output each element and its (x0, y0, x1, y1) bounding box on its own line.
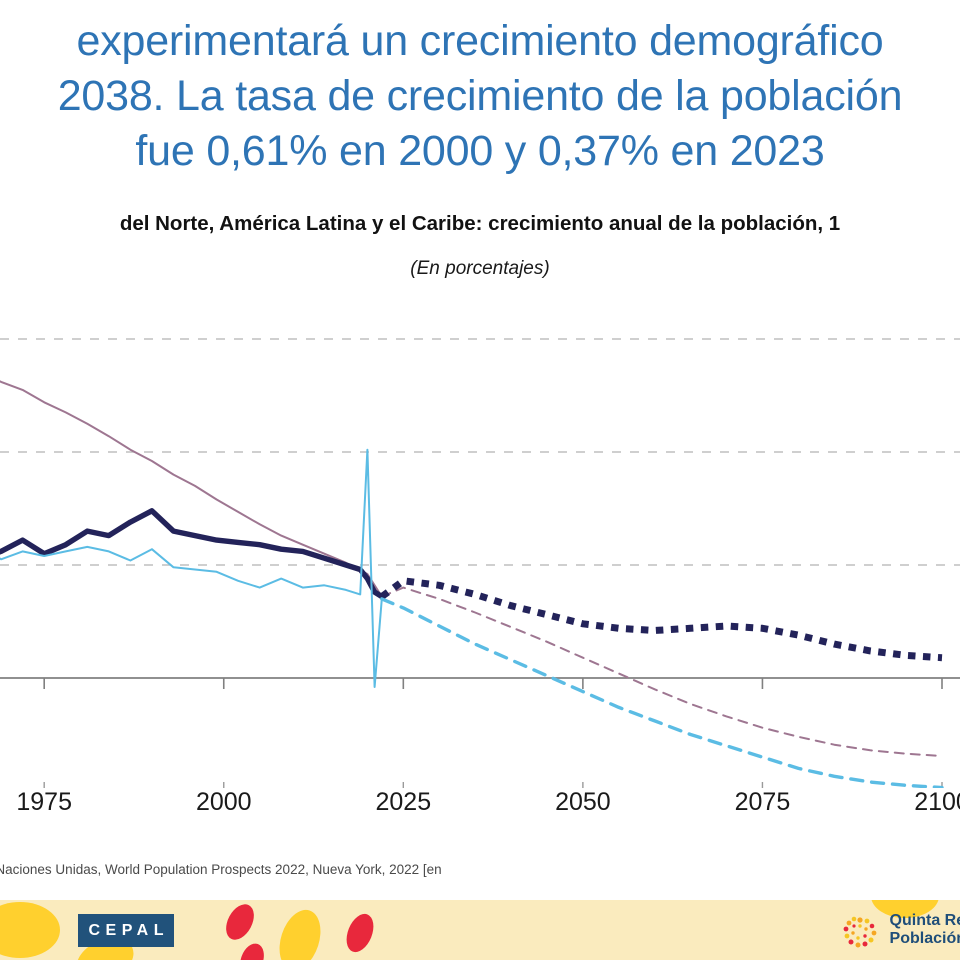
x-axis-label: 2050 (555, 788, 611, 817)
chart-x-axis-labels: 197520002025205020752100 (0, 788, 960, 822)
event-title-line-1: Quinta Re (890, 912, 960, 930)
sunburst-icon (838, 910, 882, 950)
x-axis-label: 1975 (16, 788, 72, 817)
event-title-line-2: Población (890, 930, 960, 948)
event-logo: Quinta Re Población (838, 910, 960, 950)
slide-title-line-3: fue 0,61% en 2000 y 0,37% en 2023 (0, 124, 960, 179)
slide-title-line-2: 2038. La tasa de crecimiento de la pobla… (0, 69, 960, 124)
x-axis-label: 2000 (196, 788, 252, 817)
x-axis-label: 2075 (735, 788, 791, 817)
x-axis-label: 2100 (914, 788, 960, 817)
x-axis-label: 2025 (376, 788, 432, 817)
growth-line-chart (0, 318, 960, 788)
chart-series-layer (0, 362, 942, 788)
chart-x-tickmarks (44, 678, 942, 788)
chart-subtitle: (En porcentajes) (0, 258, 960, 280)
slide-title-line-1: experimentará un crecimiento demográfico (0, 14, 960, 69)
chart-title: del Norte, América Latina y el Caribe: c… (0, 212, 960, 236)
chart-plot-area (0, 318, 960, 788)
cepal-logo: CEPAL (78, 914, 174, 947)
chart-gridlines (0, 339, 960, 788)
footer-bar: CEPAL (0, 900, 960, 960)
source-note: América Latina y el Caribe (CEPAL), sobr… (0, 862, 960, 877)
slide-title: experimentará un crecimiento demográfico… (0, 14, 960, 179)
cepal-logo-text: CEPAL (83, 922, 169, 940)
